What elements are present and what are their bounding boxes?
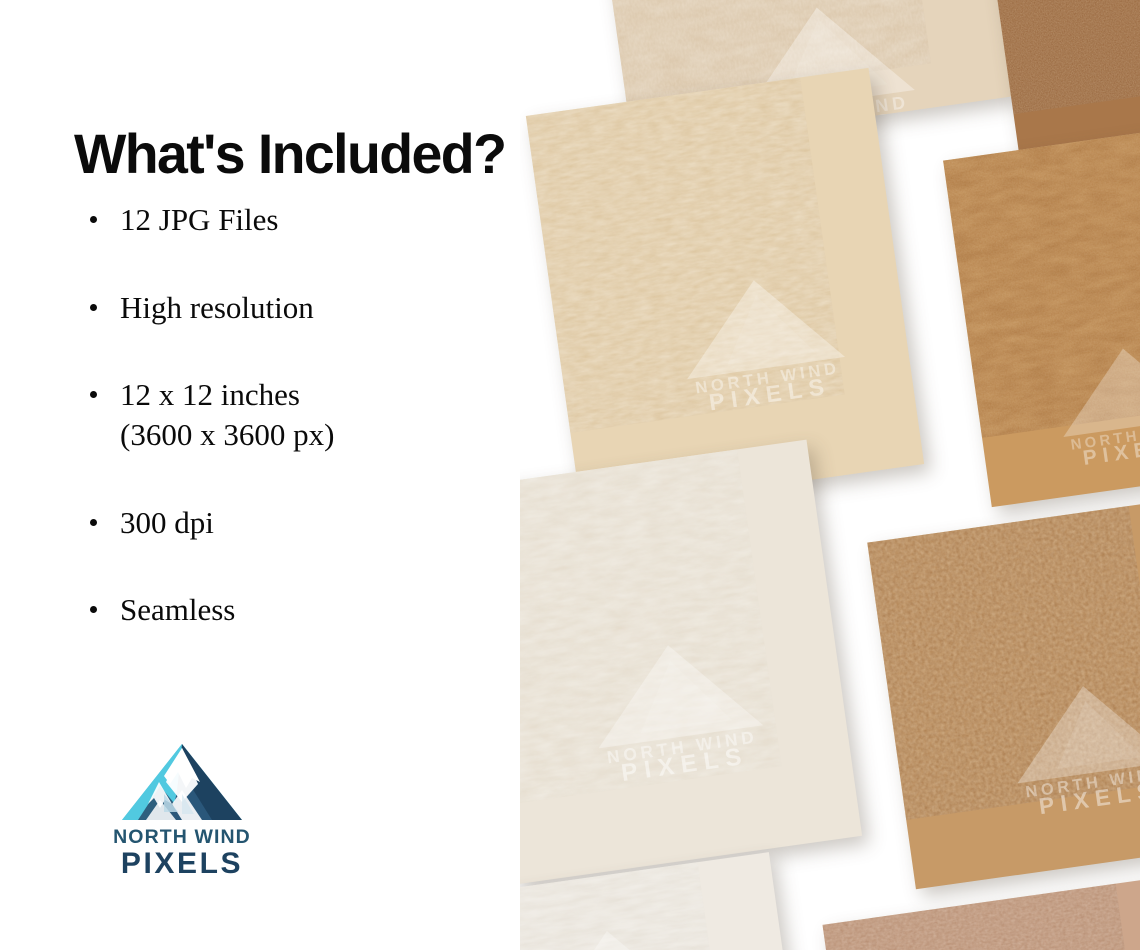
list-item-label: 300 dpi [120, 505, 214, 540]
list-item-label: High resolution [120, 290, 314, 325]
mountain-logo-icon [120, 742, 244, 824]
list-item: 12 JPG Files [86, 200, 506, 240]
list-item: 12 x 12 inches (3600 x 3600 px) [86, 375, 506, 454]
watermark-line-2: PIXELS [1082, 432, 1140, 470]
list-item: 300 dpi [86, 503, 506, 543]
list-item-label: 12 JPG Files [120, 202, 278, 237]
sand-tile-white-soft: NORTH WIND PIXELS [460, 440, 862, 885]
bullet-icon [90, 519, 97, 526]
sand-tile-golden-dunes: NORTH WIND PIXELS [943, 119, 1140, 507]
logo-wordmark: NORTH WIND PIXELS [112, 827, 252, 880]
bullet-icon [90, 216, 97, 223]
info-panel: What's Included? 12 JPG Files High resol… [0, 0, 520, 950]
product-listing-image: NORTH WIND PIXELS NORTH WIND [0, 0, 1140, 950]
logo-text-pixels: PIXELS [112, 848, 252, 880]
sand-tile-cream-ripple: NORTH WIND PIXELS [526, 68, 924, 512]
page-title: What's Included? [74, 126, 505, 182]
bullet-icon [90, 304, 97, 311]
feature-list: 12 JPG Files High resolution 12 x 12 inc… [86, 200, 506, 678]
logo-text-north-wind: NORTH WIND [112, 827, 252, 847]
bullet-icon [90, 606, 97, 613]
list-item-label: 12 x 12 inches [120, 377, 300, 412]
list-item: High resolution [86, 288, 506, 328]
bullet-icon [90, 391, 97, 398]
list-item: Seamless [86, 590, 506, 630]
sand-tile-rose-tan [822, 873, 1140, 950]
list-item-label: Seamless [120, 592, 235, 627]
watermark-line-1: NORTH WIND [1070, 420, 1140, 454]
sand-tile-coarse-brown: NORTH WIND PIXELS [991, 0, 1140, 154]
list-item-label-secondary: (3600 x 3600 px) [120, 415, 506, 455]
brand-logo: NORTH WIND PIXELS [112, 742, 262, 880]
sand-tile-tan-pebbled: NORTH WIND PIXELS [867, 497, 1140, 890]
